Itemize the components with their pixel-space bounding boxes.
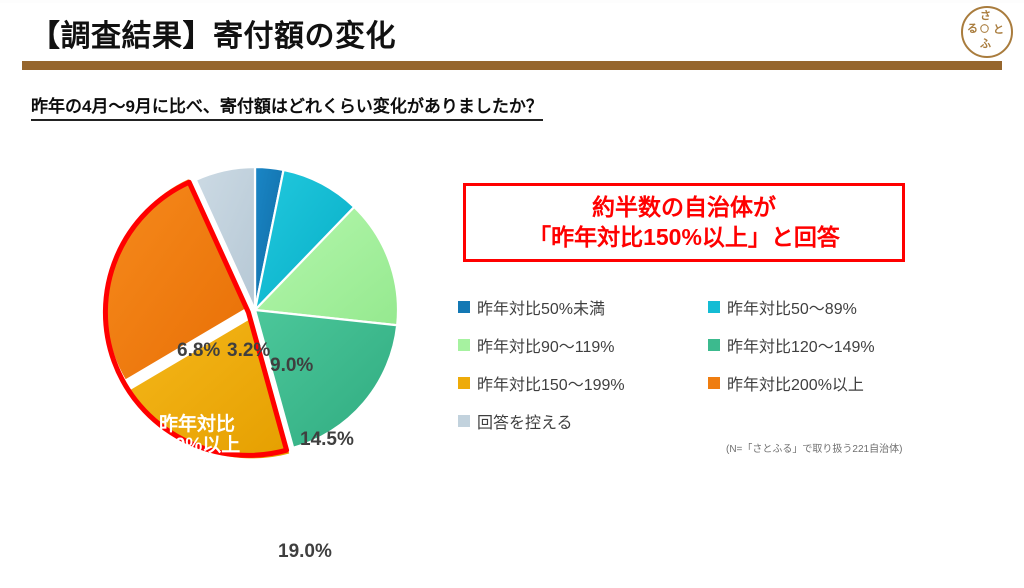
logo-glyphs: さ る と ふ 〇: [964, 9, 1010, 55]
legend-label: 昨年対比90〜119%: [477, 333, 615, 357]
survey-question: 昨年の4月〜9月に比べ、寄付額はどれくらい変化がありましたか？: [31, 92, 543, 121]
pie-label-4: 昨年対比 150〜199% 20.8%: [115, 526, 305, 588]
sample-size-note: (N=「さとふる」で取り扱う221自治体): [726, 440, 902, 455]
legend-swatch-icon: [458, 377, 470, 389]
logo-char-5: 〇: [980, 25, 989, 34]
legend-swatch-icon: [458, 339, 470, 351]
legend-item[interactable]: 昨年対比120〜149%: [708, 336, 928, 354]
slide-canvas: 【調査結果】寄付額の変化 さ る と ふ 〇 昨年の4月〜9月に比べ、寄付額はど…: [0, 0, 1024, 518]
top-hairline: [0, 0, 1024, 3]
title-divider: [22, 61, 1002, 70]
pie-chart-svg: [80, 160, 430, 460]
pie-label-4-name-2: 150〜199%: [115, 547, 305, 568]
legend-swatch-icon: [458, 301, 470, 313]
legend-item[interactable]: 昨年対比200%以上: [708, 374, 928, 392]
legend-label: 回答を控える: [477, 409, 573, 433]
satofull-logo: さ る と ふ 〇: [961, 6, 1013, 58]
callout-line-1: 約半数の自治体が: [592, 193, 776, 222]
legend-label: 昨年対比50〜89%: [727, 295, 857, 319]
legend-label: 昨年対比50%未満: [477, 295, 605, 319]
legend-item[interactable]: 昨年対比150〜199%: [458, 374, 708, 392]
pie-label-4-name-1: 昨年対比: [115, 526, 305, 547]
pie-label-3: 19.0%: [278, 541, 332, 563]
chart-legend: 昨年対比50%未満昨年対比50〜89%昨年対比90〜119%昨年対比120〜14…: [458, 298, 928, 430]
pie-label-4-value: 20.8%: [115, 567, 305, 588]
legend-item[interactable]: 回答を控える: [458, 412, 708, 430]
page-title: 【調査結果】寄付額の変化: [30, 16, 790, 58]
legend-swatch-icon: [708, 301, 720, 313]
logo-char-3: と: [993, 25, 1004, 36]
legend-item[interactable]: 昨年対比50〜89%: [708, 298, 928, 316]
logo-char-2: る: [967, 24, 978, 35]
legend-label: 昨年対比120〜149%: [727, 333, 875, 357]
legend-swatch-icon: [708, 339, 720, 351]
pie-label-3-value: 19.0%: [278, 541, 332, 562]
legend-swatch-icon: [458, 415, 470, 427]
logo-char-4: ふ: [980, 39, 991, 50]
logo-char-1: さ: [980, 11, 991, 22]
legend-label: 昨年対比200%以上: [727, 371, 864, 395]
legend-swatch-icon: [708, 377, 720, 389]
callout-line-2: 「昨年対比150%以上」と回答: [528, 223, 840, 252]
legend-label: 昨年対比150〜199%: [477, 371, 625, 395]
pie-chart: 3.2% 9.0% 14.5% 19.0% 昨年対比 150〜199% 20.8…: [80, 160, 430, 460]
legend-item[interactable]: 昨年対比90〜119%: [458, 336, 708, 354]
callout-box: 約半数の自治体が 「昨年対比150%以上」と回答: [463, 183, 905, 262]
legend-item[interactable]: 昨年対比50%未満: [458, 298, 708, 316]
